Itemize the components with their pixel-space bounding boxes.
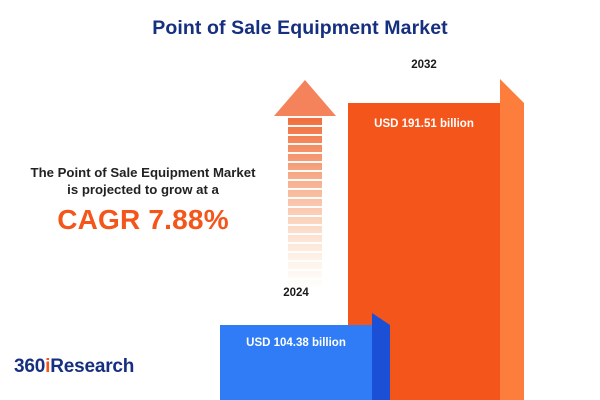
brand-logo: 360iResearch	[14, 356, 134, 378]
growth-arrow-icon	[274, 80, 336, 290]
arrow-rungs	[288, 116, 322, 290]
bar-2024: USD 104.38 billion	[220, 313, 390, 400]
bar-2024-side-face	[372, 325, 390, 400]
bar-2032-side-face	[500, 103, 524, 400]
bar-2024-value-label: USD 104.38 billion	[220, 325, 372, 361]
infographic-canvas: Point of Sale Equipment Market The Point…	[0, 0, 600, 400]
bar-label-year-2032: 2032	[348, 59, 500, 71]
cagr-statement: The Point of Sale Equipment Market is pr…	[12, 164, 274, 236]
logo-prefix: 360	[14, 356, 45, 377]
logo-suffix: Research	[50, 356, 134, 377]
page-title: Point of Sale Equipment Market	[0, 17, 600, 40]
bar-label-year-2024: 2024	[220, 287, 372, 299]
statement-line-2: is projected to grow at a	[12, 181, 274, 198]
bar-2032-top-face	[500, 79, 524, 103]
statement-line-1: The Point of Sale Equipment Market	[12, 164, 274, 181]
arrow-head-icon	[274, 80, 336, 116]
cagr-value: CAGR 7.88%	[12, 204, 274, 236]
bar-2032-value-label: USD 191.51 billion	[348, 103, 500, 145]
bar-2024-top-face	[372, 313, 390, 325]
